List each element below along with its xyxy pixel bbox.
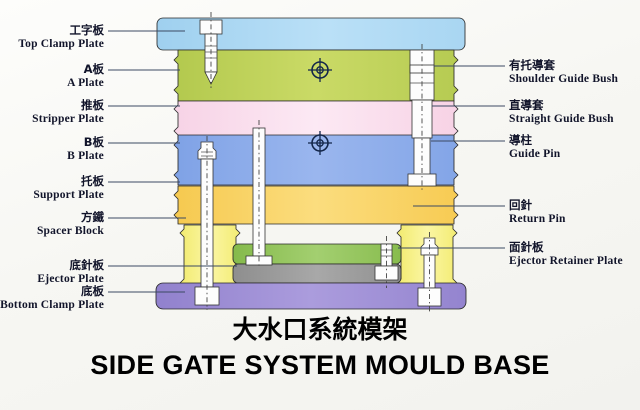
label-bottom-clamp-plate-en: Bottom Clamp Plate <box>0 299 104 311</box>
label-support-plate-cn: 托板 <box>81 174 104 188</box>
label-support-plate-en: Support Plate <box>33 189 104 201</box>
label-stripper-plate-cn: 推板 <box>81 98 104 112</box>
label-return-pin-en: Return Pin <box>509 213 566 225</box>
label-b-plate-cn: B板 <box>84 135 105 149</box>
label-group-right: 有托導套 Shoulder Guide Bush 直導套 Straight Gu… <box>509 58 623 267</box>
label-ejector-retainer-plate-en: Ejector Retainer Plate <box>509 255 623 267</box>
label-return-pin-cn: 回針 <box>509 198 532 212</box>
label-shoulder-guide-bush-cn: 有托導套 <box>509 58 555 72</box>
label-shoulder-guide-bush-en: Shoulder Guide Bush <box>509 73 618 85</box>
label-a-plate-cn: A板 <box>84 62 105 76</box>
label-ejector-retainer-plate-cn: 面針板 <box>509 240 544 254</box>
label-stripper-plate-en: Stripper Plate <box>32 113 104 125</box>
label-bottom-clamp-plate-cn: 底板 <box>81 284 104 298</box>
label-straight-guide-bush-en: Straight Guide Bush <box>509 113 614 125</box>
label-straight-guide-bush-cn: 直導套 <box>509 98 544 112</box>
label-group-left: 工字板 Top Clamp Plate A板 A Plate 推板 Stripp… <box>0 23 104 311</box>
label-guide-pin-cn: 導柱 <box>509 133 532 147</box>
label-spacer-block-en: Spacer Block <box>37 225 104 237</box>
label-top-clamp-plate-en: Top Clamp Plate <box>18 38 104 50</box>
label-top-clamp-plate-cn: 工字板 <box>70 23 105 37</box>
title-chinese: 大水口系統模架 <box>232 315 407 344</box>
title-english: SIDE GATE SYSTEM MOULD BASE <box>90 350 549 380</box>
label-b-plate-en: B Plate <box>67 150 104 162</box>
label-guide-pin-en: Guide Pin <box>509 148 561 160</box>
label-a-plate-en: A Plate <box>67 77 104 89</box>
diagram-canvas: 工字板 Top Clamp Plate A板 A Plate 推板 Stripp… <box>0 0 640 410</box>
label-spacer-block-cn: 方鐵 <box>81 210 104 224</box>
plate-support <box>174 186 458 224</box>
label-ejector-plate-cn: 底針板 <box>70 258 105 272</box>
